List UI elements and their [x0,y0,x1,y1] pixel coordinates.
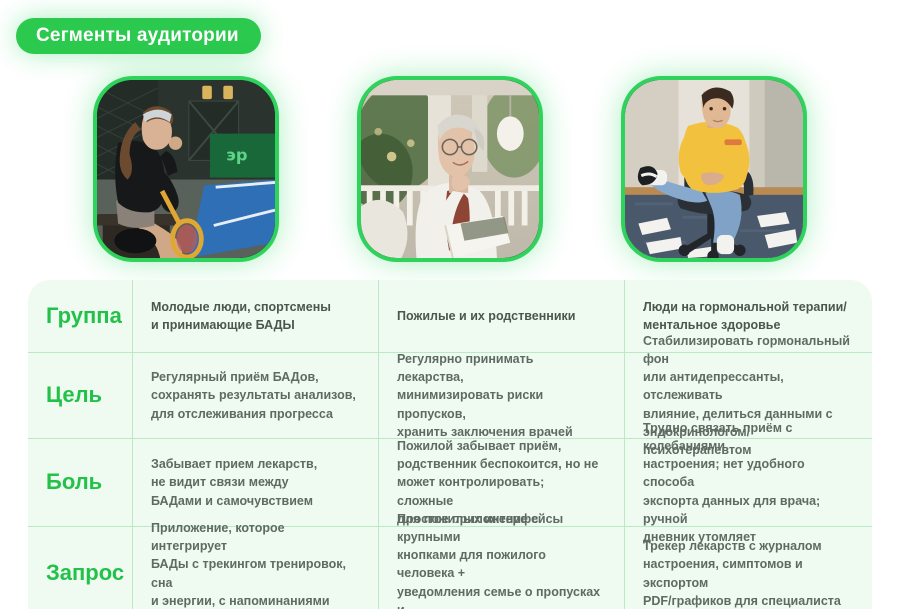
row-label-text: Боль [46,470,102,494]
cell-text: Регулярно принимать лекарства, минимизир… [397,350,602,441]
page-title-badge: Сегменты аудитории [16,18,261,54]
row-label-goal: Цель [28,353,132,438]
cell-request-seniors: Простое приложение с крупными кнопками д… [378,527,624,609]
table-row-request: Запрос Приложение, которое интегрирует Б… [28,526,872,609]
photo-card-athlete: эр [93,76,279,262]
cell-request-athletes: Приложение, которое интегрирует БАДы с т… [132,527,378,609]
cell-text: Люди на гормональной терапии/ ментальное… [643,298,847,334]
cell-text: Трекер лекарств с журналом настроения, с… [643,537,850,609]
cell-group-seniors: Пожилые и их родственники [378,280,624,352]
cell-pain-athletes: Забывает прием лекарств, не видит связи … [132,439,378,526]
svg-text:эр: эр [226,145,247,164]
cell-goal-athletes: Регулярный приём БАДов, сохранять резуль… [132,353,378,438]
page-title: Сегменты аудитории [36,25,239,47]
row-label-group: Группа [28,280,132,352]
row-label-text: Цель [46,383,102,407]
photo-card-young-man [621,76,807,262]
photo-strip: эр [0,76,900,262]
cell-group-athletes: Молодые люди, спортсмены и принимающие Б… [132,280,378,352]
photo-senior [361,80,539,258]
row-label-request: Запрос [28,527,132,609]
cell-text: Молодые люди, спортсмены и принимающие Б… [151,298,331,334]
row-label-text: Запрос [46,561,124,585]
photo-young-man [625,80,803,258]
cell-text: Приложение, которое интегрирует БАДы с т… [151,519,356,609]
cell-goal-seniors: Регулярно принимать лекарства, минимизир… [378,353,624,438]
row-label-pain: Боль [28,439,132,526]
photo-card-senior [357,76,543,262]
cell-request-hormonal: Трекер лекарств с журналом настроения, с… [624,527,872,609]
cell-text: Забывает прием лекарств, не видит связи … [151,455,317,509]
cell-text: Простое приложение с крупными кнопками д… [397,510,602,609]
cell-pain-hormonal: Трудно связать приём с колебаниями настр… [624,439,872,526]
cell-text: Регулярный приём БАДов, сохранять резуль… [151,368,356,422]
photo-athlete: эр [97,80,275,258]
segments-table: Группа Молодые люди, спортсмены и приним… [28,280,872,609]
row-label-text: Группа [46,304,122,328]
cell-text: Пожилые и их родственники [397,307,575,325]
